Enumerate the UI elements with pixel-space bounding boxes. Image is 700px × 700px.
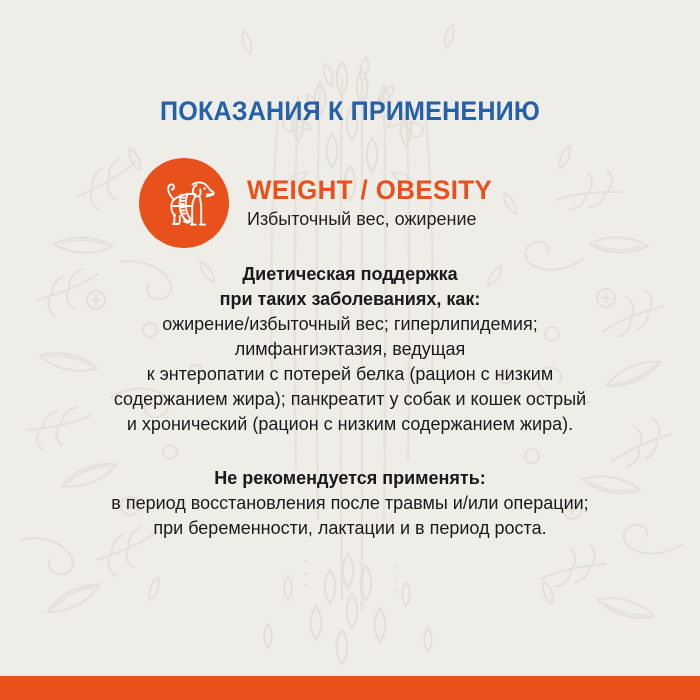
- indications-heading-line: Диетическая поддержка: [0, 262, 700, 287]
- indications-heading-line: при таких заболеваниях, как:: [0, 287, 700, 312]
- indications-body-line: к энтеропатии с потерей белка (рацион с …: [0, 362, 700, 387]
- indications-body-line: и хронический (рацион с низким содержани…: [0, 412, 700, 437]
- badge-title: WEIGHT / OBESITY: [247, 176, 492, 204]
- indications-body-line: лимфангиэктазия, ведущая: [0, 337, 700, 362]
- contraindications-block: Не рекомендуется применять: в период вос…: [0, 466, 700, 541]
- page-root: ПОКАЗАНИЯ К ПРИМЕНЕНИЮ: [0, 0, 700, 700]
- indications-body-line: содержанием жира); панкреатит у собак и …: [0, 387, 700, 412]
- indications-block: Диетическая поддержка при таких заболева…: [0, 262, 700, 437]
- bottom-accent-bar: [0, 676, 700, 700]
- badge-subtitle: Избыточный вес, ожирение: [247, 208, 502, 231]
- contraindications-heading-line: Не рекомендуется применять:: [0, 466, 700, 491]
- page-title: ПОКАЗАНИЯ К ПРИМЕНЕНИЮ: [25, 96, 676, 127]
- dog-measuring-tape-icon: [139, 158, 229, 248]
- contraindications-body-line: в период восстановления после травмы и/и…: [0, 491, 700, 516]
- badge-text-group: WEIGHT / OBESITY Избыточный вес, ожирени…: [247, 176, 502, 231]
- content-layer: ПОКАЗАНИЯ К ПРИМЕНЕНИЮ: [0, 0, 700, 700]
- indications-body-line: ожирение/избыточный вес; гиперлипидемия;: [0, 312, 700, 337]
- contraindications-body-line: при беременности, лактации и в период ро…: [0, 516, 700, 541]
- indication-badge: WEIGHT / OBESITY Избыточный вес, ожирени…: [0, 158, 700, 248]
